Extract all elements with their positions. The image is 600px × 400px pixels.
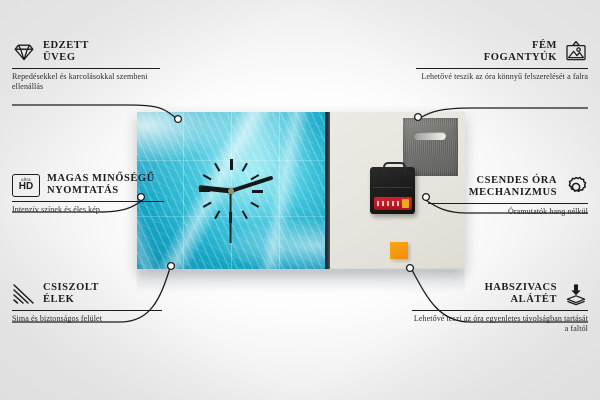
feature-tempered-glass: EDZETT ÜVEG Repedésekkel és karcolásokka… [12, 40, 160, 92]
feature-title: EDZETT ÜVEG [43, 40, 89, 64]
feature-title: CSISZOLT ÉLEK [43, 282, 99, 306]
picture-frame-hanger-icon [564, 40, 588, 64]
feature-header: HABSZIVACS ALÁTÉT [412, 282, 588, 306]
divider [12, 201, 164, 202]
feature-polished-edges: CSISZOLT ÉLEK Sima és biztonságos felüle… [12, 282, 162, 324]
clock-dial [137, 112, 325, 269]
mechanism-seam [373, 187, 412, 188]
feature-description: Repedésekkel és karcolásokkal szembeni e… [12, 72, 160, 92]
clock-second-hand [230, 191, 232, 243]
foam-spacer-pad [390, 242, 408, 259]
mechanism-hook [383, 162, 406, 173]
feature-description: Sima és biztonságos felület [12, 314, 162, 324]
divider [12, 310, 162, 311]
clock-mechanism [370, 167, 415, 214]
press-pad-icon [564, 282, 588, 306]
divider [12, 68, 160, 69]
infographic-stage: EDZETT ÜVEG Repedésekkel és karcolásokka… [0, 0, 600, 400]
feature-header: CSISZOLT ÉLEK [12, 282, 162, 306]
feature-header: FÉM FOGANTYÚK [416, 40, 588, 64]
divider [412, 310, 588, 311]
ultra-hd-badge-icon: ultra HD [12, 174, 40, 197]
feature-title: FÉM FOGANTYÚK [484, 40, 557, 64]
feature-description: Intenzív színek és éles kép [12, 205, 164, 215]
divider [416, 68, 588, 69]
battery [374, 197, 412, 210]
feature-foam-pad: HABSZIVACS ALÁTÉT Lehetővé teszi az óra … [412, 282, 588, 334]
product-image [137, 112, 465, 269]
feature-header: CSENDES ÓRA MECHANIZMUS [428, 175, 588, 199]
feature-metal-hangers: FÉM FOGANTYÚK Lehetővé teszik az óra kön… [416, 40, 588, 82]
bevelled-edge-icon [12, 282, 36, 306]
feature-description: Lehetővé teszi az óra egyenletes távolsá… [412, 314, 588, 334]
feature-header: EDZETT ÜVEG [12, 40, 160, 64]
feature-title: CSENDES ÓRA MECHANIZMUS [469, 175, 557, 199]
feature-title: HABSZIVACS ALÁTÉT [485, 282, 557, 306]
clock-center-pin [228, 188, 234, 194]
diamond-icon [12, 40, 36, 64]
hanger-slot [414, 132, 446, 140]
gear-icon [564, 175, 588, 199]
battery-label [377, 201, 403, 206]
feature-title: MAGAS MINŐSÉGŰ NYOMTATÁS [47, 173, 155, 197]
feature-hq-print: ultra HD MAGAS MINŐSÉGŰ NYOMTATÁS Intenz… [12, 173, 164, 215]
feature-header: ultra HD MAGAS MINŐSÉGŰ NYOMTATÁS [12, 173, 164, 197]
divider [428, 203, 588, 204]
clock-front-view [137, 112, 325, 269]
feature-description: Lehetővé teszik az óra könnyű felszerelé… [416, 72, 588, 82]
feature-description: Óramutatók hang nélkül [428, 207, 588, 217]
feature-silent-mechanism: CSENDES ÓRA MECHANIZMUS Óramutatók hang … [428, 175, 588, 217]
